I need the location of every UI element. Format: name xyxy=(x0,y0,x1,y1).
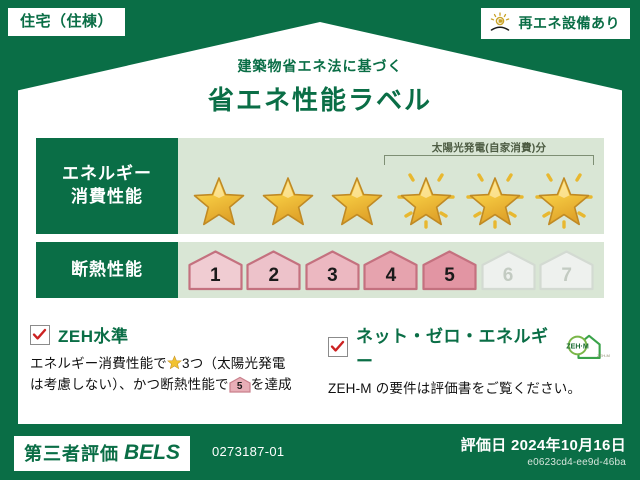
inline-star-icon xyxy=(167,355,182,370)
zeh-criterion-header: ZEH水準 xyxy=(30,322,312,347)
solar-bracket xyxy=(384,155,594,165)
zeh-desc-part4: を達成 xyxy=(251,377,292,392)
star-6 xyxy=(534,168,594,230)
insulation-chip-2: 2 xyxy=(245,249,302,291)
net-zero-title: ネット・ゼロ・エネルギー xyxy=(356,322,558,372)
title-main: 省エネ性能ラベル xyxy=(0,80,640,117)
svg-text:ZEH·M: ZEH·M xyxy=(566,343,589,351)
star-1 xyxy=(189,168,249,230)
building-type-tag: 住宅（住棟） xyxy=(8,8,125,36)
zeh-checkbox[interactable] xyxy=(30,325,50,345)
zeh-m-logo-icon: ZEH·M ZEH-M xyxy=(566,332,610,362)
renewable-equipment-badge: 再エネ設備あり xyxy=(481,8,631,39)
net-zero-criterion: ネット・ゼロ・エネルギー ZEH·M ZEH-M ZEH-M の要件は評価書をご… xyxy=(312,322,610,400)
insulation-chip-5: 5 xyxy=(421,249,478,291)
insulation-chip-4: 4 xyxy=(362,249,419,291)
bels-jp-label: 第三者評価 xyxy=(24,440,119,466)
title-subtitle: 建築物省エネ法に基づく xyxy=(0,56,640,76)
check-icon xyxy=(330,339,345,354)
insulation-chip-value: 6 xyxy=(503,266,514,291)
renewable-badge-label: 再エネ設備あり xyxy=(519,13,621,33)
zeh-desc-part2: 3つ（太陽光発電 xyxy=(182,356,286,371)
label-title: 建築物省エネ法に基づく 省エネ性能ラベル xyxy=(0,56,640,117)
bels-en-label: BELS xyxy=(124,441,180,465)
zeh-title: ZEH水準 xyxy=(58,322,129,347)
insulation-chip-value: 7 xyxy=(561,266,572,291)
insulation-chip-value: 2 xyxy=(269,266,280,291)
insulation-chip-value: 4 xyxy=(386,266,397,291)
evaluation-info: 評価日 2024年10月16日 e0623cd4-ee9d-46ba xyxy=(461,434,626,468)
evaluation-date: 評価日 2024年10月16日 xyxy=(461,434,626,455)
zeh-desc-part1: エネルギー消費性能で xyxy=(30,356,167,371)
insulation-chip-7: 7 xyxy=(538,249,595,291)
insulation-chip-6: 6 xyxy=(480,249,537,291)
net-zero-checkbox[interactable] xyxy=(328,337,348,357)
net-zero-description: ZEH-M の要件は評価書をご覧ください。 xyxy=(328,379,610,400)
star-rating xyxy=(178,168,604,230)
star-3 xyxy=(327,168,387,230)
sun-icon xyxy=(489,12,513,34)
label-footer: 第三者評価 BELS 0273187-01 評価日 2024年10月16日 e0… xyxy=(0,428,640,480)
star-4 xyxy=(396,168,456,230)
insulation-chip-value: 1 xyxy=(210,266,221,291)
net-zero-criterion-header: ネット・ゼロ・エネルギー ZEH·M ZEH-M xyxy=(328,322,610,372)
solar-annotation-text: 太陽光発電(自家消費)分 xyxy=(382,140,596,155)
energy-label-line1: エネルギー xyxy=(62,163,152,186)
energy-performance-label: 住宅（住棟） 再エネ設備あり 建築物省エネ法に基づく 省エネ性能ラベル xyxy=(0,0,640,480)
star-2 xyxy=(258,168,318,230)
inline-insulation-chip-icon: 5 xyxy=(229,376,251,393)
criteria-section: ZEH水準 エネルギー消費性能で3つ（太陽光発電は考慮しない）、かつ断熱性能で5… xyxy=(30,322,610,400)
bels-badge: 第三者評価 BELS xyxy=(14,436,190,471)
inline-chip-value: 5 xyxy=(229,382,251,392)
insulation-label-text: 断熱性能 xyxy=(71,259,143,282)
zeh-desc-part3: は考慮しない）、かつ断熱性能で xyxy=(30,377,229,392)
energy-row-label: エネルギー 消費性能 xyxy=(36,138,178,234)
energy-label-line2: 消費性能 xyxy=(71,186,143,209)
check-icon xyxy=(32,327,47,342)
bels-number: 0273187-01 xyxy=(212,444,284,459)
insulation-row-body: 1234567 xyxy=(178,242,604,298)
insulation-row-label: 断熱性能 xyxy=(36,242,178,298)
insulation-chip-1: 1 xyxy=(187,249,244,291)
insulation-performance-row: 断熱性能 1234567 xyxy=(36,242,604,298)
insulation-chip-value: 3 xyxy=(327,266,338,291)
svg-text:ZEH-M: ZEH-M xyxy=(597,353,610,358)
zeh-criterion: ZEH水準 エネルギー消費性能で3つ（太陽光発電は考慮しない）、かつ断熱性能で5… xyxy=(30,322,312,400)
insulation-chip-3: 3 xyxy=(304,249,361,291)
insulation-chip-value: 5 xyxy=(444,266,455,291)
evaluation-hash: e0623cd4-ee9d-46ba xyxy=(461,457,626,468)
zeh-description: エネルギー消費性能で3つ（太陽光発電は考慮しない）、かつ断熱性能で5を達成 xyxy=(30,354,312,396)
insulation-chip-scale: 1234567 xyxy=(178,242,604,298)
energy-performance-row: エネルギー 消費性能 太陽光発電(自家消費)分 xyxy=(36,138,604,234)
star-5 xyxy=(465,168,525,230)
energy-row-body: 太陽光発電(自家消費)分 xyxy=(178,138,604,234)
